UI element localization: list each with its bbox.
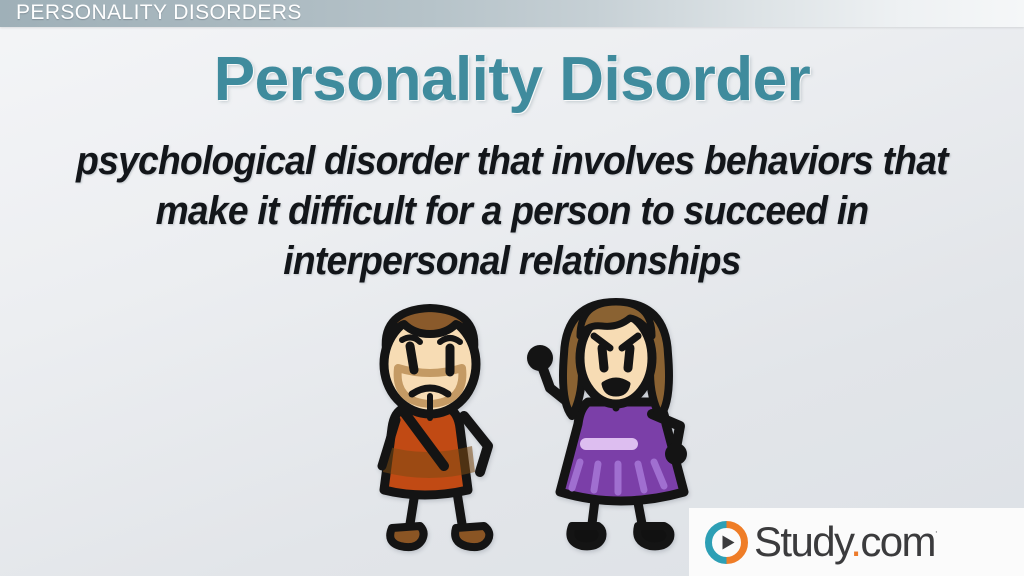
slide-canvas: PERSONALITY DISORDERS Personality Disord… — [0, 0, 1024, 576]
definition-line-1: psychological disorder that involves beh… — [69, 136, 954, 186]
definition-line-3: interpersonal relationships — [69, 236, 954, 286]
banner-title-label: PERSONALITY DISORDERS — [16, 1, 302, 25]
definition-line-2: make it difficult for a person to succee… — [69, 186, 954, 236]
page-title: Personality Disorder — [0, 44, 1024, 115]
definition-text-block: psychological disorder that involves beh… — [69, 136, 954, 286]
logo-brand: Study — [754, 518, 850, 565]
illustration-two-figures — [352, 296, 712, 566]
section-banner: PERSONALITY DISORDERS — [0, 0, 1024, 27]
logo-wordmark: Study.com˙ — [754, 521, 939, 563]
logo-tld: com — [860, 518, 935, 565]
play-button-icon — [705, 521, 748, 564]
study-com-logo[interactable]: Study.com˙ — [689, 508, 1024, 576]
logo-trademark: ˙ — [935, 529, 939, 544]
woman-figure — [527, 302, 687, 546]
man-figure — [382, 308, 489, 547]
logo-dot: . — [850, 518, 860, 565]
